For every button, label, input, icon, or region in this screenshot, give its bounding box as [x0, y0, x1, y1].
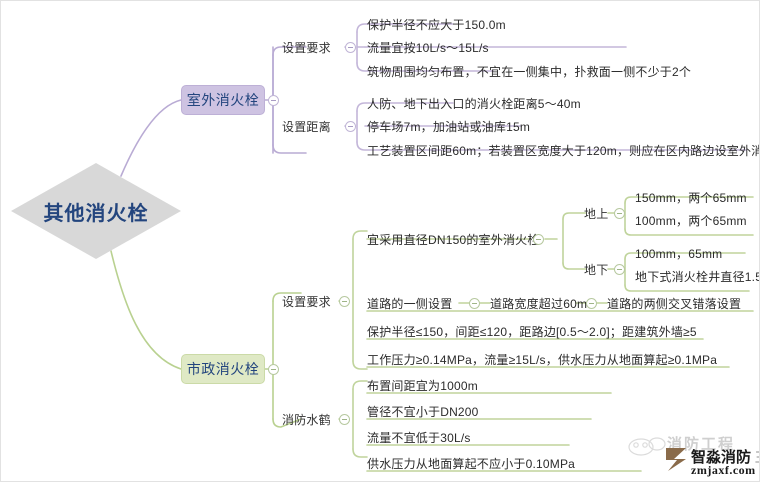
- toggle-municipal[interactable]: [268, 364, 279, 375]
- chain-node-2[interactable]: 道路宽度超过60m: [490, 297, 587, 311]
- leaf-underground-1[interactable]: 100mm，65mm: [635, 247, 722, 261]
- toggle-fire-crane[interactable]: [339, 414, 350, 425]
- toggle-chain-2[interactable]: [586, 298, 597, 309]
- leaf-outdoor-dist-2[interactable]: 停车场7m，加油站或油库15m: [367, 120, 530, 134]
- chain-node-3[interactable]: 道路的两侧交叉错落设置: [607, 297, 741, 311]
- root-label: 其他消火栓: [11, 163, 181, 259]
- group-label-outdoor-requirements[interactable]: 设置要求: [282, 41, 331, 55]
- toggle-diameter-dn150[interactable]: [533, 234, 544, 245]
- branch-label-outdoor: 室外消火栓: [187, 90, 260, 110]
- watermark-tail-text: 王: [755, 447, 760, 466]
- node-diameter-dn150[interactable]: 宜采用直径DN150的室外消火栓: [367, 233, 540, 247]
- root-node[interactable]: 其他消火栓: [11, 163, 181, 259]
- group-label-aboveground[interactable]: 地上: [584, 207, 608, 221]
- leaf-aboveground-2[interactable]: 100mm，两个65mm: [635, 214, 747, 228]
- mindmap-canvas: 其他消火栓 室外消火栓 设置要求 保护半径不应大于150.0m 流量宜按10L/…: [0, 0, 760, 482]
- leaf-fire-crane-2[interactable]: 管径不宜小于DN200: [367, 405, 479, 419]
- watermark-url: zmjaxf.com: [691, 463, 756, 478]
- branch-node-municipal[interactable]: 市政消火栓: [181, 354, 265, 384]
- leaf-aboveground-1[interactable]: 150mm，两个65mm: [635, 191, 747, 205]
- toggle-aboveground[interactable]: [614, 208, 625, 219]
- toggle-underground[interactable]: [614, 264, 625, 275]
- group-label-municipal-requirements[interactable]: 设置要求: [282, 295, 331, 309]
- toggle-municipal-requirements[interactable]: [339, 296, 350, 307]
- watermark: 消防工程 智淼消防 zmjaxf.com 王: [619, 429, 759, 479]
- group-label-fire-crane[interactable]: 消防水鹤: [282, 413, 331, 427]
- leaf-outdoor-req-2[interactable]: 流量宜按10L/s～15L/s: [367, 41, 489, 55]
- leaf-fire-crane-3[interactable]: 流量不宜低于30L/s: [367, 431, 471, 445]
- toggle-chain-1[interactable]: [469, 298, 480, 309]
- toggle-outdoor[interactable]: [268, 95, 279, 106]
- leaf-outdoor-dist-1[interactable]: 人防、地下出入口的消火栓距离5～40m: [367, 97, 581, 111]
- leaf-municipal-req-1[interactable]: 保护半径≤150，间距≤120，距路边[0.5～2.0]；距建筑外墙≥5: [367, 325, 697, 339]
- brand-logo-icon: [663, 445, 689, 473]
- leaf-fire-crane-1[interactable]: 布置间距宜为1000m: [367, 379, 478, 393]
- group-label-outdoor-distance[interactable]: 设置距离: [282, 120, 331, 134]
- leaf-outdoor-req-3[interactable]: 筑物周围均匀布置，不宜在一侧集中，扑救面一侧不少于2个: [367, 65, 691, 79]
- leaf-municipal-req-2[interactable]: 工作压力≥0.14MPa，流量≥15L/s，供水压力从地面算起≥0.1MPa: [367, 353, 717, 367]
- leaf-outdoor-dist-3[interactable]: 工艺装置区间距60m；若装置区宽度大于120m，则应在区内路边设室外消火栓: [367, 144, 760, 158]
- toggle-outdoor-requirements[interactable]: [345, 42, 356, 53]
- toggle-outdoor-distance[interactable]: [345, 121, 356, 132]
- chain-node-1[interactable]: 道路的一侧设置: [367, 297, 452, 311]
- branch-node-outdoor[interactable]: 室外消火栓: [181, 85, 265, 115]
- leaf-underground-2[interactable]: 地下式消火栓井直径1.5m: [635, 270, 760, 284]
- group-label-underground[interactable]: 地下: [584, 263, 608, 277]
- leaf-fire-crane-4[interactable]: 供水压力从地面算起不应小于0.10MPa: [367, 457, 575, 471]
- branch-label-municipal: 市政消火栓: [187, 359, 260, 379]
- leaf-outdoor-req-1[interactable]: 保护半径不应大于150.0m: [367, 18, 506, 32]
